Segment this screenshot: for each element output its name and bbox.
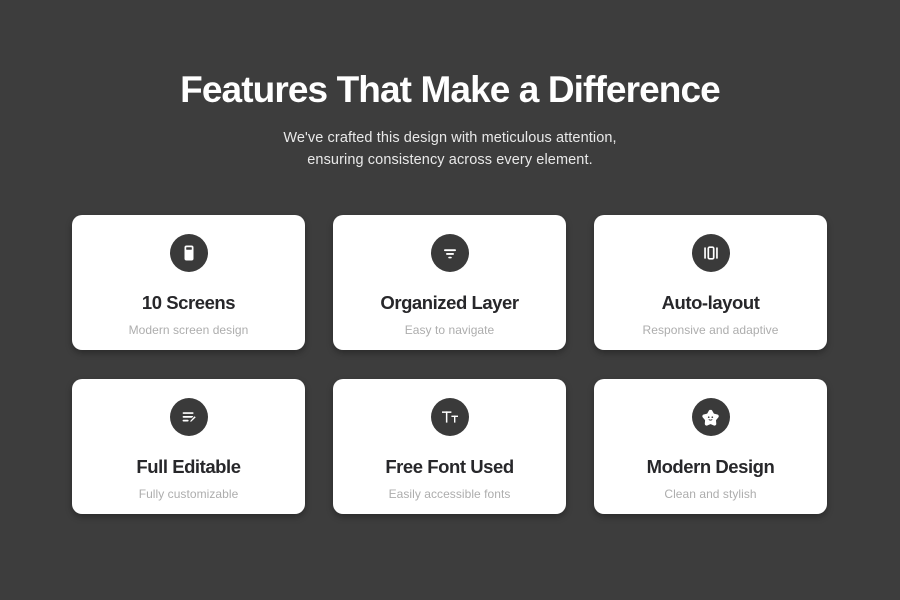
icon-badge — [692, 398, 730, 436]
card-subtitle: Easily accessible fonts — [389, 488, 511, 500]
star-icon — [700, 407, 721, 428]
mobile-screen-icon — [179, 243, 199, 263]
icon-badge — [431, 234, 469, 272]
section-header: Features That Make a Difference We've cr… — [0, 0, 900, 172]
feature-card[interactable]: Organized Layer Easy to navigate — [333, 215, 566, 350]
card-title: Organized Layer — [380, 294, 518, 313]
subtitle-line-2: ensuring consistency across every elemen… — [0, 149, 900, 171]
filter-lines-icon — [440, 243, 460, 263]
card-subtitle: Responsive and adaptive — [643, 324, 779, 336]
feature-card[interactable]: Modern Design Clean and stylish — [594, 379, 827, 514]
card-subtitle: Fully customizable — [139, 488, 239, 500]
feature-card-grid: 10 Screens Modern screen design Organize… — [72, 215, 828, 514]
subtitle-line-1: We've crafted this design with meticulou… — [0, 127, 900, 149]
card-title: Modern Design — [647, 458, 775, 477]
card-title: Free Font Used — [385, 458, 513, 477]
card-title: Auto-layout — [662, 294, 760, 313]
card-title: 10 Screens — [142, 294, 235, 313]
card-subtitle: Modern screen design — [129, 324, 249, 336]
typography-icon — [439, 406, 461, 428]
icon-badge — [170, 398, 208, 436]
feature-card[interactable]: Free Font Used Easily accessible fonts — [333, 379, 566, 514]
icon-badge — [692, 234, 730, 272]
card-subtitle: Easy to navigate — [405, 324, 495, 336]
feature-card[interactable]: 10 Screens Modern screen design — [72, 215, 305, 350]
page-title: Features That Make a Difference — [0, 70, 900, 111]
features-section: Features That Make a Difference We've cr… — [0, 0, 900, 600]
section-subtitle: We've crafted this design with meticulou… — [0, 127, 900, 172]
auto-layout-icon — [701, 243, 721, 263]
edit-pencil-icon — [179, 407, 199, 427]
card-subtitle: Clean and stylish — [664, 488, 756, 500]
feature-card[interactable]: Full Editable Fully customizable — [72, 379, 305, 514]
feature-card[interactable]: Auto-layout Responsive and adaptive — [594, 215, 827, 350]
icon-badge — [170, 234, 208, 272]
card-title: Full Editable — [136, 458, 240, 477]
icon-badge — [431, 398, 469, 436]
